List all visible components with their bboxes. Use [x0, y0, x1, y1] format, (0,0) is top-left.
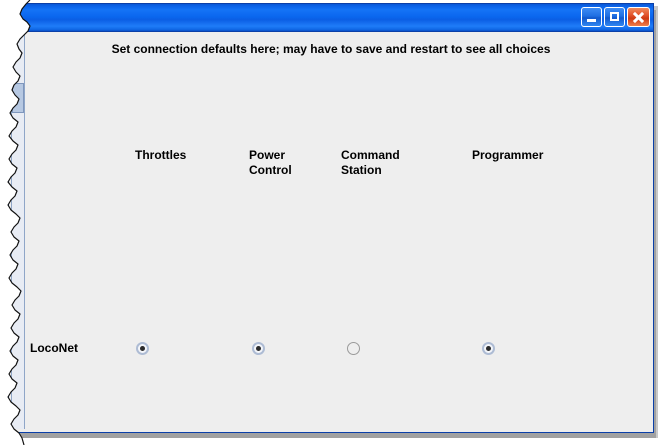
- close-button[interactable]: [627, 7, 650, 27]
- radio-loconet-command-station[interactable]: [347, 342, 360, 355]
- instruction-banner: Set connection defaults here; may have t…: [9, 42, 653, 56]
- title-bar[interactable]: [9, 4, 653, 32]
- minimize-button[interactable]: [581, 7, 602, 27]
- radio-loconet-power-control[interactable]: [252, 342, 265, 355]
- column-header-power-control: Power Control: [249, 148, 292, 178]
- column-header-throttles: Throttles: [135, 148, 186, 163]
- row-label-loconet: LocoNet: [30, 341, 78, 355]
- screenshot-canvas: Set connection defaults here; may have t…: [0, 0, 668, 445]
- maximize-button[interactable]: [604, 7, 625, 27]
- vertical-scrollbar-thumb[interactable]: [12, 83, 24, 113]
- maximize-icon: [610, 12, 619, 21]
- radio-loconet-programmer[interactable]: [482, 342, 495, 355]
- minimize-icon: [587, 19, 596, 22]
- application-window: Set connection defaults here; may have t…: [8, 3, 654, 433]
- column-header-command-station: Command Station: [341, 148, 400, 178]
- caption-button-group: [581, 7, 650, 27]
- close-icon: [628, 8, 649, 26]
- window-client-area: Set connection defaults here; may have t…: [9, 32, 653, 432]
- column-header-programmer: Programmer: [472, 148, 543, 163]
- radio-loconet-throttles[interactable]: [136, 342, 149, 355]
